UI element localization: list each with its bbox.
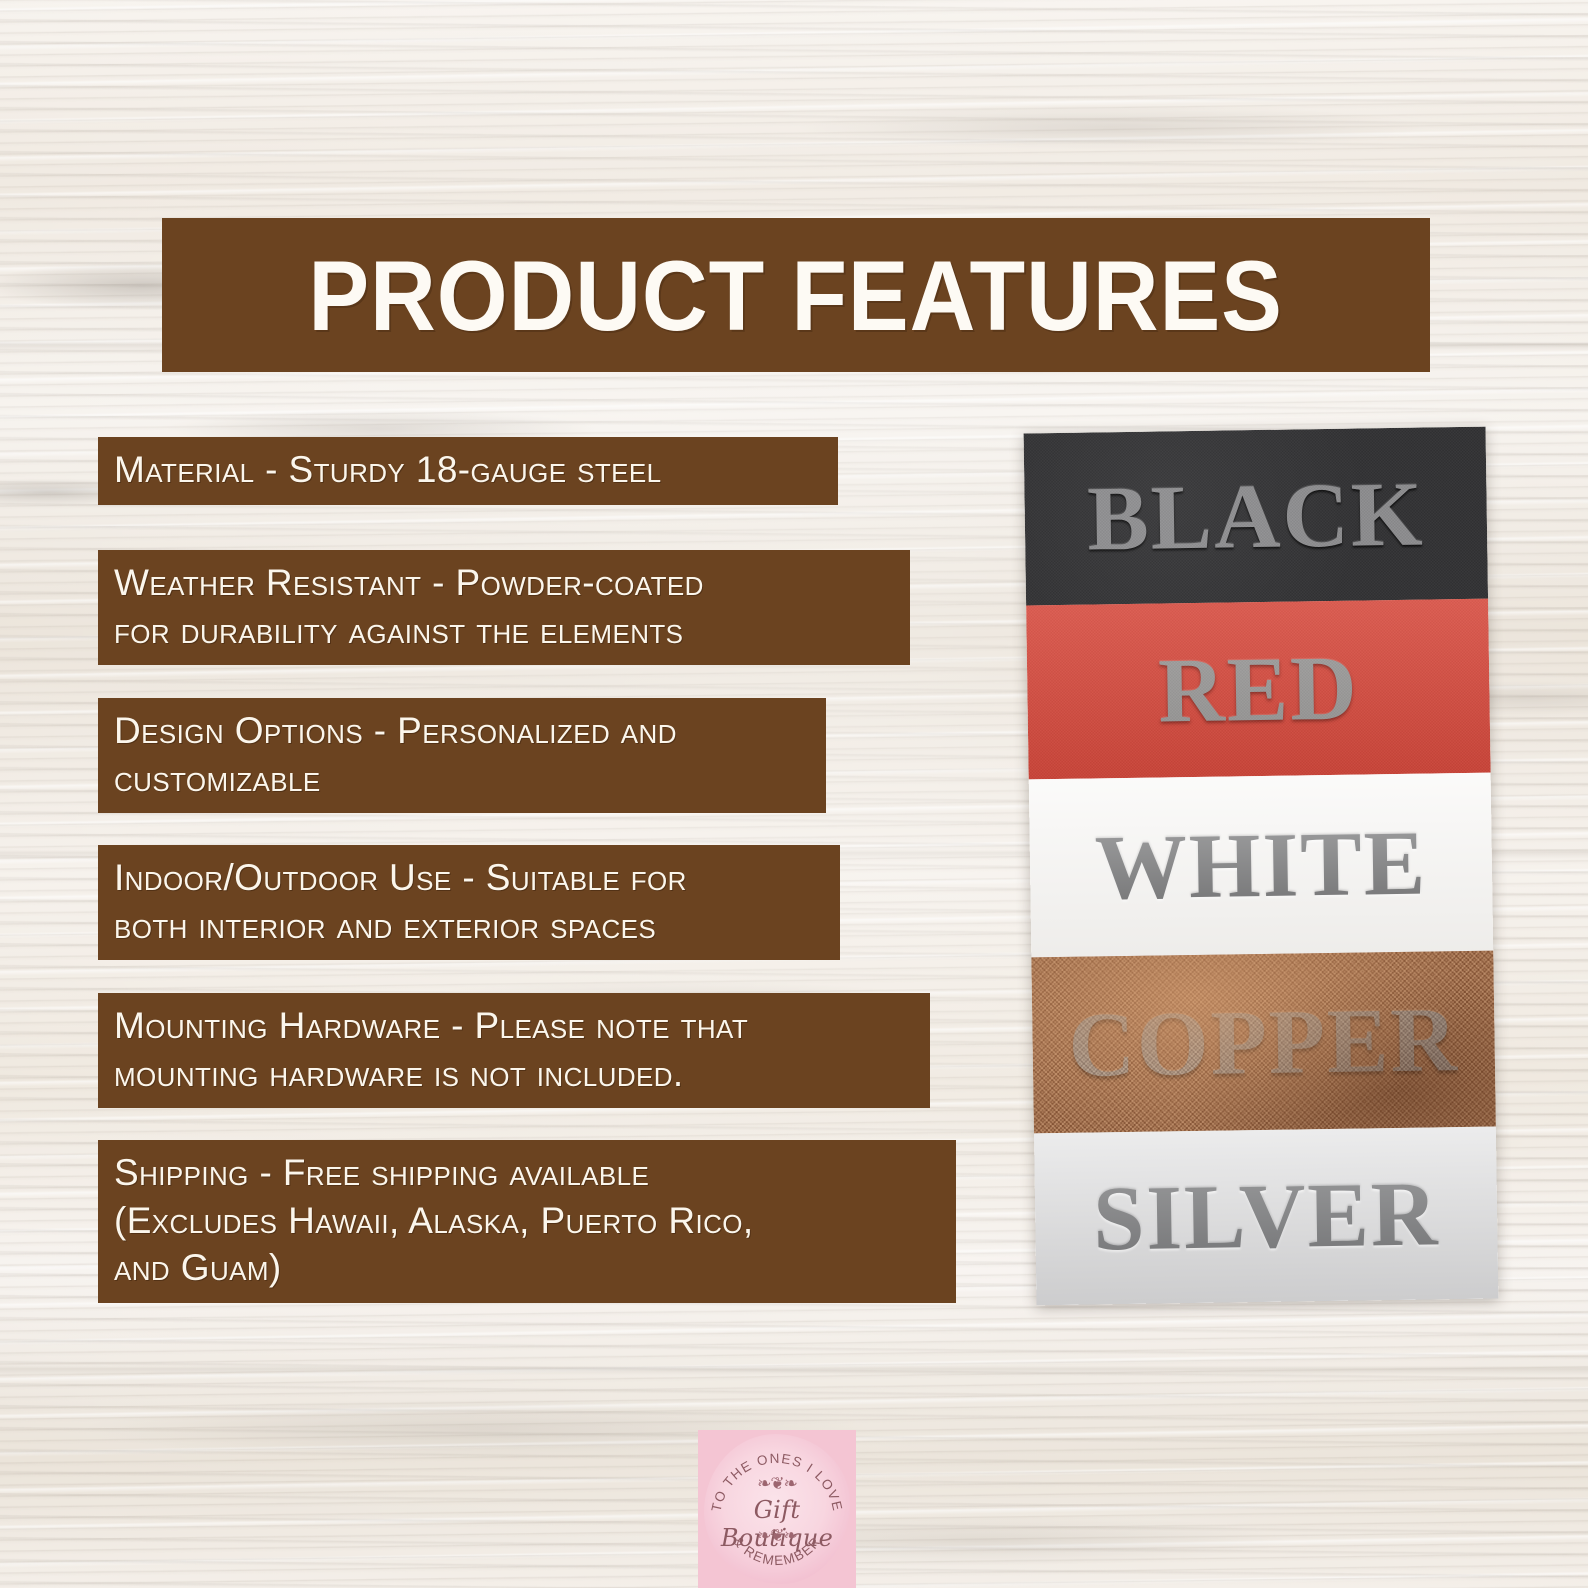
color-swatch-label: RED (1158, 642, 1360, 737)
color-swatch-black[interactable]: BLACK (1024, 427, 1489, 606)
feature-line: both interior and exterior spaces (114, 902, 824, 950)
color-swatch-silver[interactable]: SILVER (1034, 1127, 1499, 1306)
color-swatch-red[interactable]: RED (1026, 599, 1491, 780)
feature-line: (Excludes Hawaii, Alaska, Puerto Rico, (114, 1197, 940, 1245)
feature-line: mounting hardware is not included. (114, 1050, 914, 1098)
color-swatch-label: COPPER (1068, 993, 1460, 1091)
page-title: PRODUCT FEATURES (309, 246, 1283, 345)
feature-line: Mounting Hardware - Please note that (114, 1002, 914, 1050)
logo-ornament-top-icon: ❧❦❧ (698, 1474, 856, 1494)
feature-line: customizable (114, 755, 810, 803)
brand-logo-watermark: TO THE ONES I LOVE & REMEMBER ❧❦❧ Gift B… (698, 1430, 856, 1588)
color-swatch-copper[interactable]: COPPER (1031, 951, 1496, 1134)
feature-block-indoor-outdoor: Indoor/Outdoor Use - Suitable for both i… (98, 845, 840, 960)
logo-ornament-bottom-icon: ❧❦❧ (698, 1526, 856, 1546)
feature-block-mounting-hardware: Mounting Hardware - Please note that mou… (98, 993, 930, 1108)
feature-block-weather-resistant: Weather Resistant - Powder-coated for du… (98, 550, 910, 665)
color-swatch-label: WHITE (1094, 817, 1427, 914)
color-swatch-white[interactable]: WHITE (1029, 773, 1494, 958)
feature-block-material: Material - Sturdy 18-gauge steel (98, 437, 838, 505)
feature-line: Indoor/Outdoor Use - Suitable for (114, 854, 824, 902)
feature-block-design-options: Design Options - Personalized and custom… (98, 698, 826, 813)
page-title-banner: PRODUCT FEATURES (162, 218, 1430, 372)
feature-line: Weather Resistant - Powder-coated (114, 559, 894, 607)
feature-line: and Guam) (114, 1244, 940, 1292)
color-swatch-label: SILVER (1092, 1167, 1439, 1264)
feature-line: for durability against the elements (114, 607, 894, 655)
feature-line: Shipping - Free shipping available (114, 1149, 940, 1197)
color-swatch-panel: BLACK RED WHITE COPPER SILVER (1024, 427, 1499, 1306)
feature-line: Design Options - Personalized and (114, 707, 810, 755)
feature-block-shipping: Shipping - Free shipping available (Excl… (98, 1140, 956, 1303)
color-swatch-label: BLACK (1087, 468, 1425, 565)
feature-line: Material - Sturdy 18-gauge steel (114, 446, 822, 494)
